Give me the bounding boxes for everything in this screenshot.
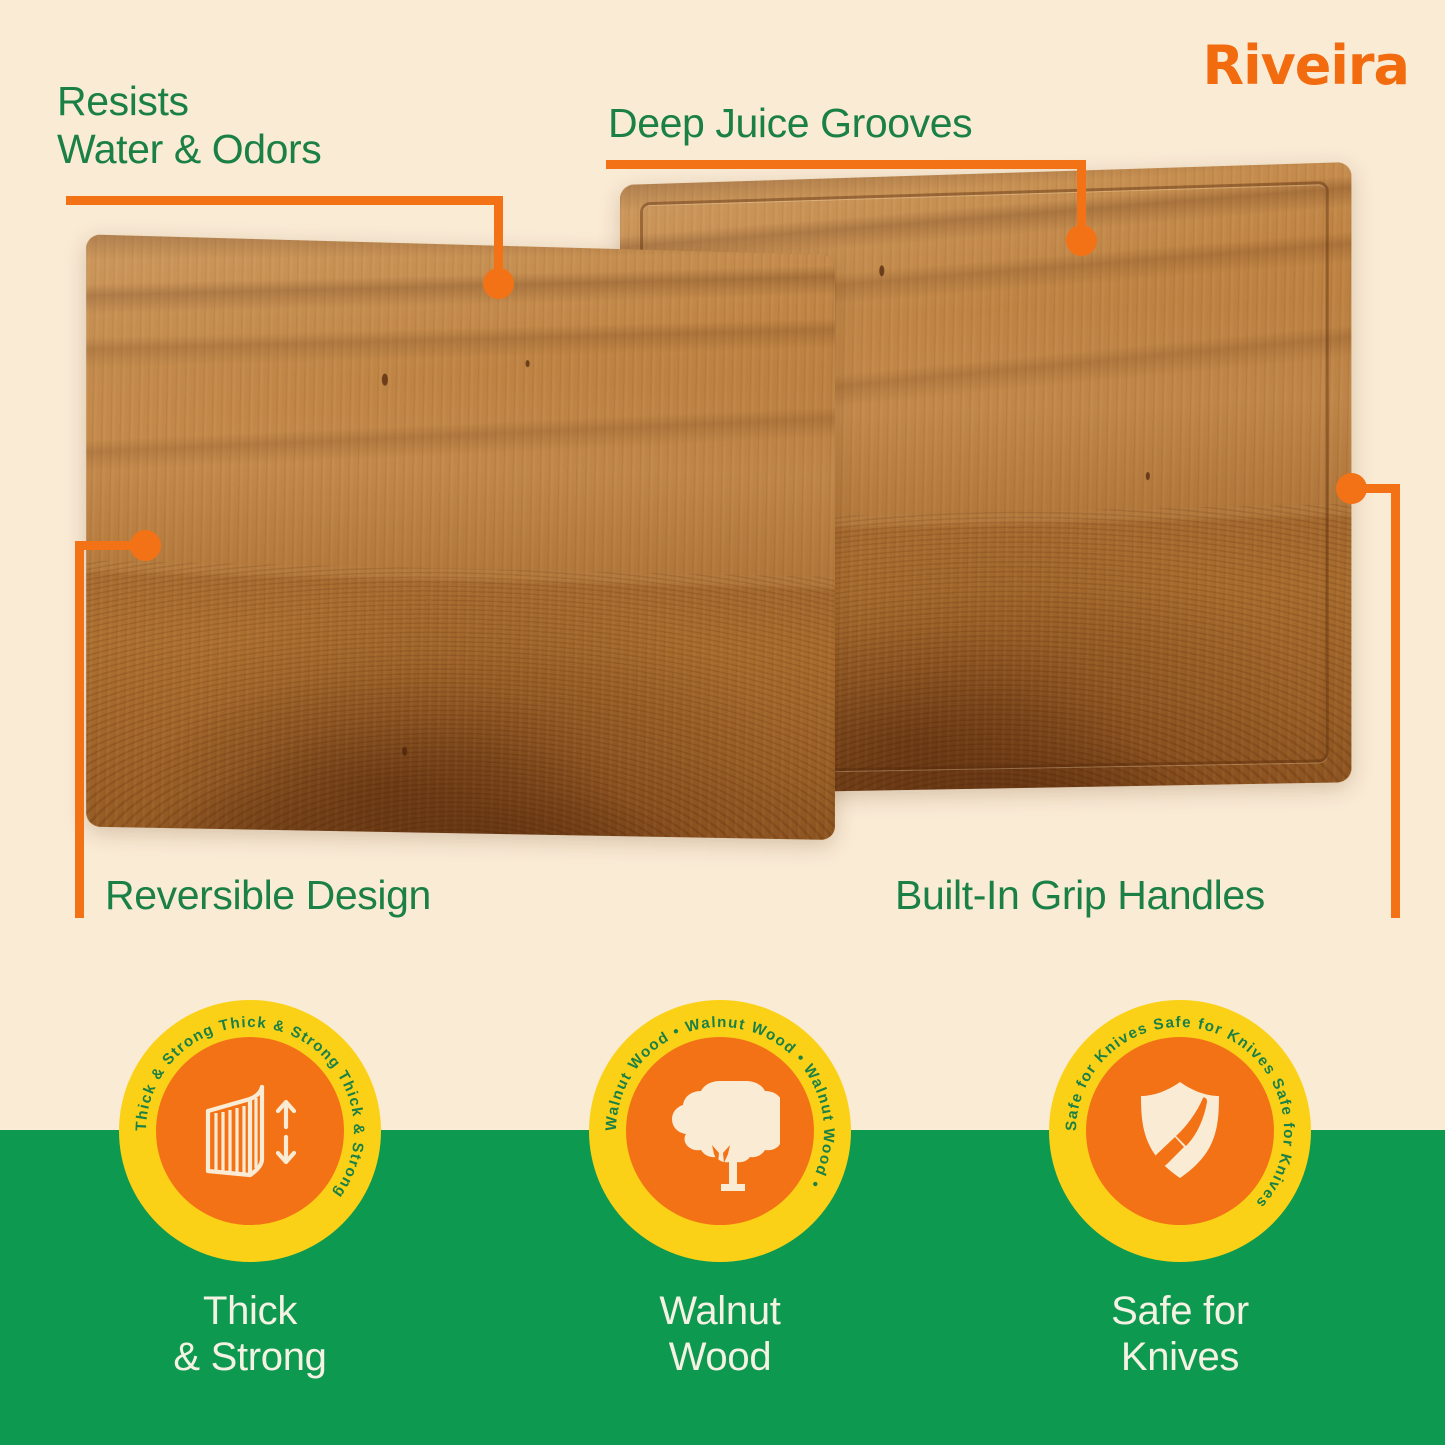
feature-badge-safe-for-knives: Safe for Knives Safe for Knives Safe for… [1040, 1000, 1320, 1380]
wood-knot [402, 747, 407, 756]
leader-dot-grooves [1066, 225, 1097, 256]
badge-core-walnut-wood [626, 1037, 814, 1225]
badge-caption-walnut-wood: Walnut Wood [580, 1288, 860, 1380]
infographic-canvas: Riveira Resists Water & Odors Deep Juice… [0, 0, 1445, 1445]
tree-icon [660, 1071, 780, 1191]
brand-logo: Riveira [1203, 34, 1410, 97]
badge-caption-safe-for-knives: Safe for Knives [1040, 1288, 1320, 1380]
leader-line-handles-vertical [1391, 484, 1400, 918]
callout-label-built-in-grip-handles: Built-In Grip Handles [895, 872, 1265, 920]
wood-knot [879, 265, 884, 276]
leader-line-grooves-horizontal [606, 160, 1086, 169]
leader-line-reversible-vertical [75, 541, 84, 918]
badge-core-thick-and-strong [156, 1037, 344, 1225]
badge-caption-thick-and-strong: Thick & Strong [110, 1288, 390, 1380]
callout-label-reversible-design: Reversible Design [105, 872, 431, 920]
badge-disc: Thick & Strong Thick & Strong Thick & St… [119, 1000, 381, 1262]
callout-label-deep-juice-grooves: Deep Juice Grooves [608, 100, 972, 148]
cutting-board-front [86, 234, 835, 840]
feature-badge-walnut-wood: Walnut Wood • Walnut Wood • Walnut Wood … [580, 1000, 860, 1380]
leader-dot-reversible [130, 530, 161, 561]
badge-disc: Safe for Knives Safe for Knives Safe for… [1049, 1000, 1311, 1262]
badge-disc: Walnut Wood • Walnut Wood • Walnut Wood … [589, 1000, 851, 1262]
leader-dot-resists [483, 268, 514, 299]
wood-knot [382, 373, 388, 385]
wood-grain-texture-front [86, 234, 835, 840]
callout-label-resists-water-odors: Resists Water & Odors [57, 78, 321, 173]
wood-knot [526, 360, 530, 367]
badge-core-safe-for-knives [1086, 1037, 1274, 1225]
board-thickness-icon [190, 1071, 310, 1191]
shield-knife-icon [1119, 1070, 1241, 1192]
feature-badge-thick-and-strong: Thick & Strong Thick & Strong Thick & St… [110, 1000, 390, 1380]
wood-knot [1146, 472, 1150, 480]
leader-line-resists-horizontal [66, 196, 503, 205]
